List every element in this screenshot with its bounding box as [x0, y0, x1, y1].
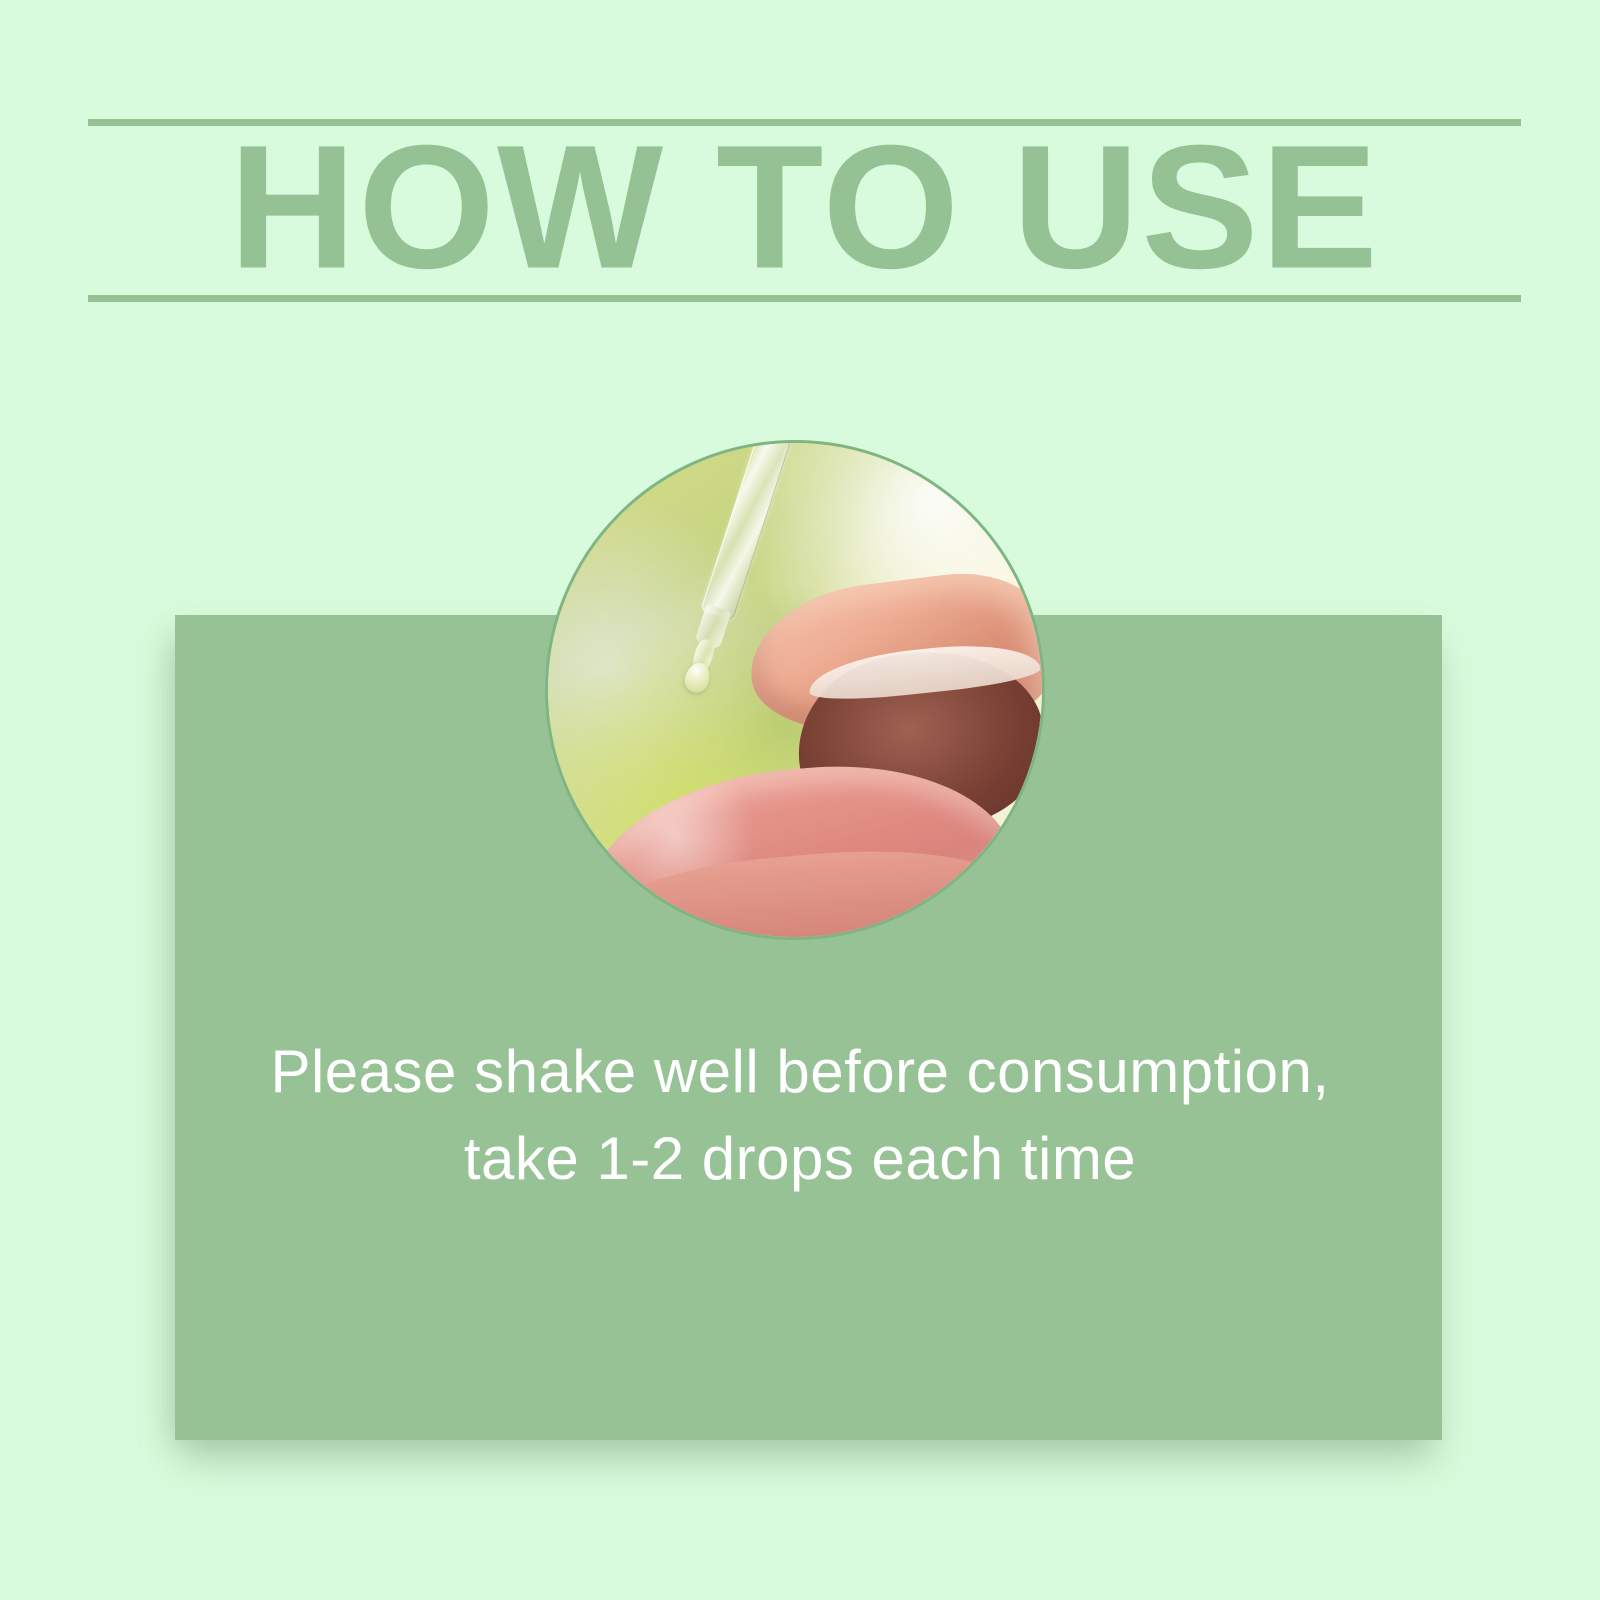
instruction-line-1: Please shake well before consumption, — [0, 1028, 1600, 1115]
divider-rule-bottom — [88, 295, 1521, 302]
usage-photo-circle — [545, 440, 1045, 940]
instruction-line-2: take 1-2 drops each time — [0, 1115, 1600, 1202]
page-title: HOW TO USE — [88, 119, 1521, 295]
header-band: HOW TO USE — [88, 119, 1521, 302]
photo-background — [548, 443, 1042, 937]
instruction-text-block: Please shake well before consumption, ta… — [0, 1028, 1600, 1202]
